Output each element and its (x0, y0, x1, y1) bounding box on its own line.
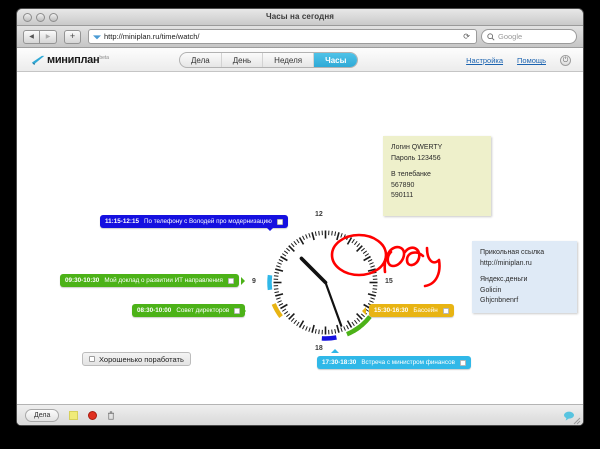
event-label: Бассейн (413, 307, 437, 314)
note-block-2: Яндекс.деньги Golicin Ghjcnbnenrf (480, 275, 569, 307)
event-checkbox[interactable] (234, 308, 240, 314)
tab-nedelya[interactable]: Неделя (263, 53, 314, 67)
event-checkbox[interactable] (460, 360, 466, 366)
url-text: http://miniplan.ru/time/watch/ (104, 32, 460, 41)
web-page: миниплан beta Дела День Неделя Часы Наст… (17, 48, 583, 426)
event-chip-report[interactable]: 09:30-10:30 Мой доклад о развитии ИТ нап… (60, 274, 239, 287)
task-checkbox[interactable] (89, 356, 95, 362)
reload-icon[interactable]: ⟳ (463, 32, 472, 41)
header-links: Настройка Помощь ⏻ (466, 55, 571, 66)
resize-grip-icon[interactable] (572, 416, 581, 425)
window-title: Часы на сегодня (17, 12, 583, 21)
clock-number-18: 18 (315, 345, 323, 352)
event-time: 15:30-16:30 (374, 307, 408, 314)
event-chip-phone[interactable]: 11:15-12:15 По телефону с Володей про мо… (100, 215, 288, 228)
browser-window: Часы на сегодня ◀ ▶ + http://miniplan.ru… (16, 8, 584, 426)
handwritten-annotation-obed (327, 232, 447, 294)
event-checkbox[interactable] (277, 219, 283, 225)
help-link[interactable]: Помощь (517, 56, 546, 65)
logo-beta-label: beta (99, 55, 109, 61)
add-tab-icon[interactable]: + (64, 30, 81, 44)
logo-text: миниплан (47, 54, 99, 66)
event-checkbox[interactable] (228, 278, 234, 284)
event-label: Совет директоров (176, 307, 229, 314)
search-icon (487, 33, 495, 41)
task-label: Хорошенько поработать (99, 355, 184, 364)
app-header: миниплан beta Дела День Неделя Часы Наст… (17, 48, 583, 72)
red-marker-swatch[interactable] (88, 411, 97, 420)
hour-hand (301, 258, 325, 282)
tab-den[interactable]: День (222, 53, 263, 67)
nav-buttons[interactable]: ◀ ▶ (23, 30, 57, 44)
task-chip-work-well[interactable]: Хорошенько поработать (82, 352, 191, 366)
browser-toolbar: ◀ ▶ + http://miniplan.ru/time/watch/ ⟳ G… (17, 26, 583, 48)
event-checkbox[interactable] (443, 308, 449, 314)
event-label: Встреча с министром финансов (361, 359, 455, 366)
event-time: 11:15-12:15 (105, 218, 139, 225)
power-icon[interactable]: ⏻ (560, 55, 571, 66)
clock-number-12: 12 (315, 211, 323, 218)
search-placeholder: Google (498, 32, 522, 41)
main-tabs[interactable]: Дела День Неделя Часы (179, 52, 358, 68)
tab-chasy[interactable]: Часы (314, 53, 357, 67)
clock-number-9: 9 (252, 278, 256, 285)
back-icon[interactable]: ◀ (23, 30, 40, 44)
event-time: 17:30-18:30 (322, 359, 356, 366)
note-block-1: Прикольная ссылка http://miniplan.ru (480, 248, 569, 269)
event-chip-minister[interactable]: 17:30-18:30 Встреча с министром финансов (317, 356, 471, 369)
event-time: 09:30-10:30 (65, 277, 99, 284)
sticky-note-credentials[interactable]: Логин QWERTY Пароль 123456 В телебанке 5… (383, 136, 491, 216)
window-titlebar: Часы на сегодня (17, 9, 583, 26)
app-logo[interactable]: миниплан beta (31, 54, 109, 66)
logo-mark-icon (31, 55, 46, 66)
event-label: Мой доклад о развитии ИТ направления (104, 277, 223, 284)
note-block-1: Логин QWERTY Пароль 123456 (391, 143, 483, 164)
status-bar: Дела (17, 404, 583, 426)
forward-icon[interactable]: ▶ (40, 30, 57, 44)
screenshot-root: Часы на сегодня ◀ ▶ + http://miniplan.ru… (0, 0, 600, 449)
event-chip-pool[interactable]: 15:30-16:30 Бассейн (369, 304, 454, 317)
note-block-2: В телебанке 567890 590111 (391, 170, 483, 202)
page-icon (93, 33, 101, 41)
address-bar[interactable]: http://miniplan.ru/time/watch/ ⟳ (88, 29, 477, 44)
event-chip-board[interactable]: 08:30-10:00 Совет директоров (132, 304, 245, 317)
pool-arc[interactable] (274, 304, 281, 317)
settings-link[interactable]: Настройка (466, 56, 503, 65)
search-input[interactable]: Google (481, 29, 577, 44)
yellow-note-swatch[interactable] (69, 411, 78, 420)
sticky-note-links[interactable]: Прикольная ссылка http://miniplan.ru Янд… (472, 241, 577, 313)
phone-arc[interactable] (322, 337, 337, 338)
dela-button[interactable]: Дела (25, 409, 59, 422)
clock-canvas: Логин QWERTY Пароль 123456 В телебанке 5… (17, 72, 583, 426)
tab-dela[interactable]: Дела (180, 53, 222, 67)
event-label: По телефону с Володей про модернизацию (144, 218, 272, 225)
event-time: 08:30-10:00 (137, 307, 171, 314)
trash-icon[interactable] (107, 411, 115, 420)
